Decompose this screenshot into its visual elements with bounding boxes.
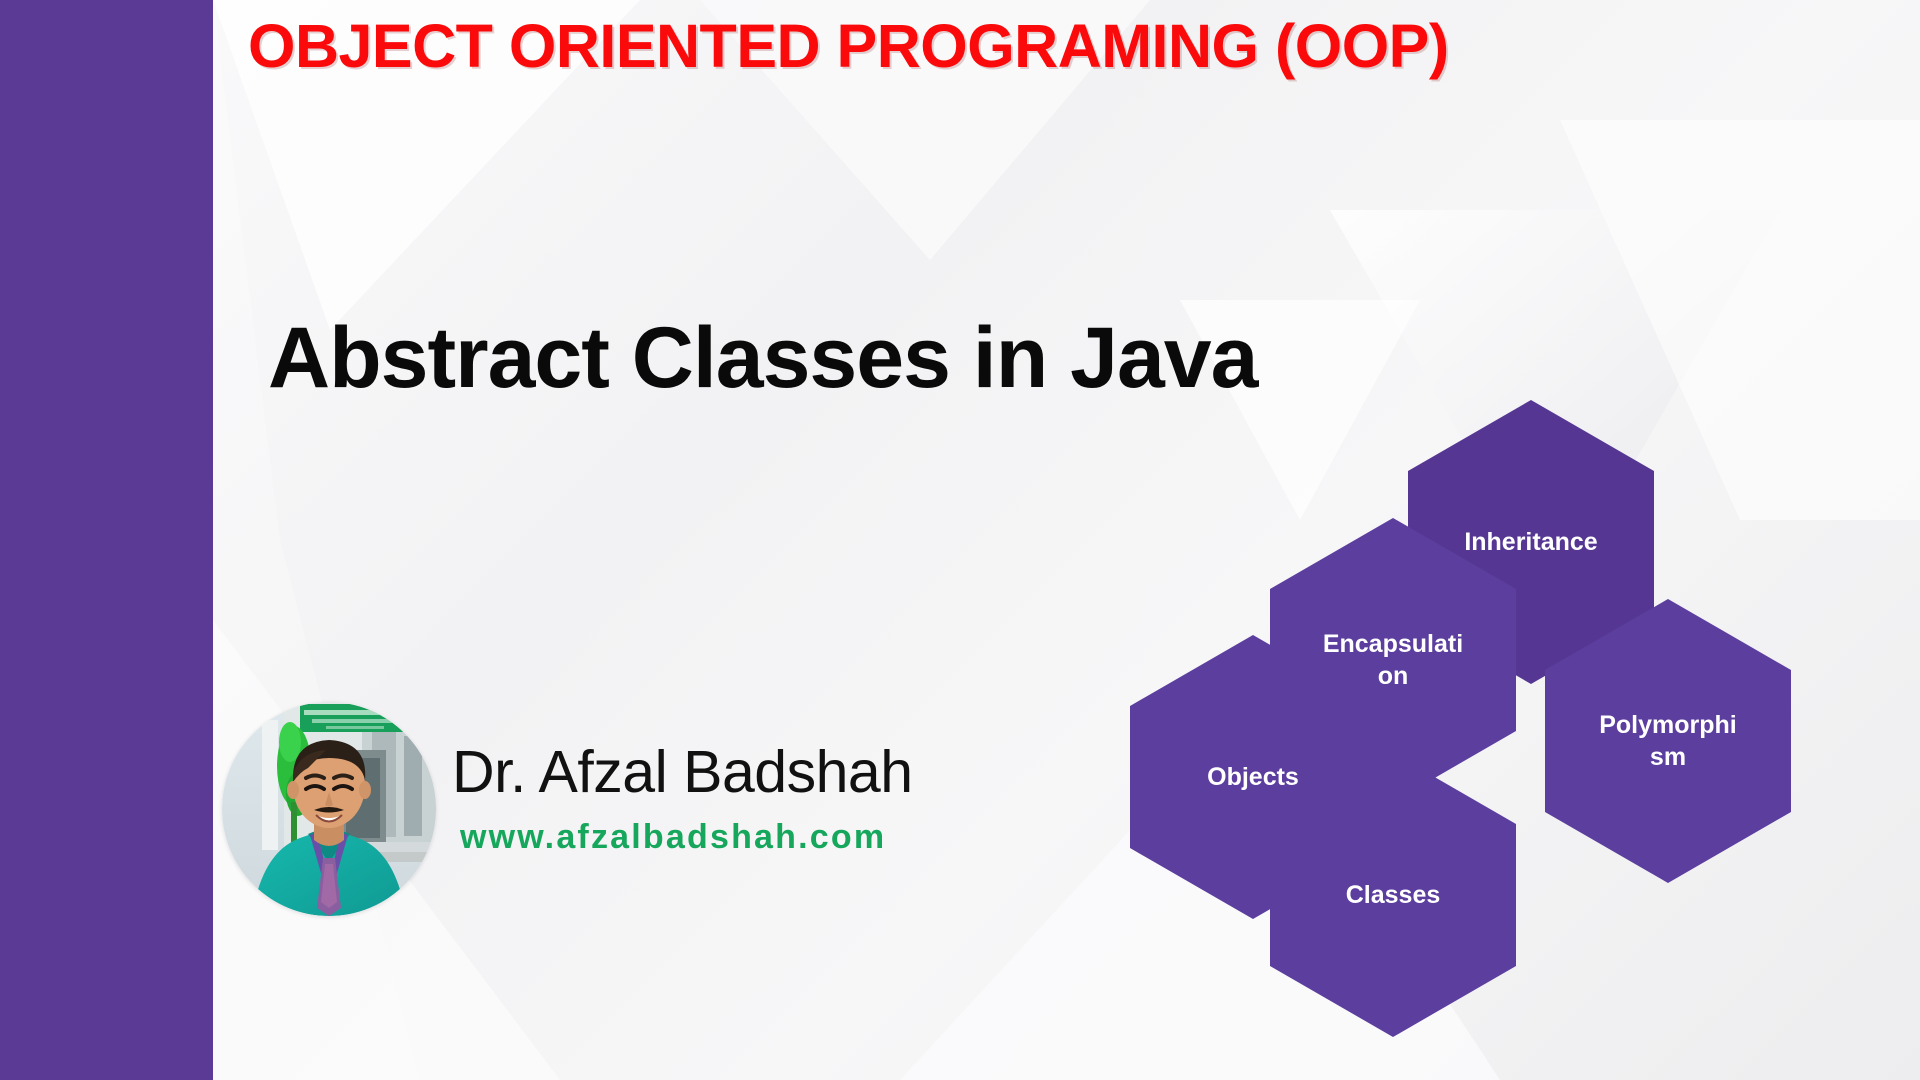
author-website-url: www.afzalbadshah.com <box>460 818 886 857</box>
oop-concepts-hex-cluster: Inheritance Encapsulation Polymorphism O… <box>1130 400 1890 1065</box>
left-accent-band <box>0 0 213 1080</box>
hex-encapsulation-label: Encapsulation <box>1318 628 1468 692</box>
hex-inheritance-label: Inheritance <box>1456 526 1606 558</box>
hex-objects-label: Objects <box>1178 761 1328 793</box>
avatar <box>222 702 436 916</box>
hex-polymorphism-label: Polymorphism <box>1593 709 1743 773</box>
avatar-photo <box>222 702 436 916</box>
author-name: Dr. Afzal Badshah <box>452 738 913 806</box>
page-header-title: OBJECT ORIENTED PROGRAMING (OOP) <box>248 14 1748 78</box>
page-title: Abstract Classes in Java <box>268 310 1348 406</box>
hex-classes-label: Classes <box>1318 879 1468 911</box>
presentation-slide: OBJECT ORIENTED PROGRAMING (OOP) Abstrac… <box>0 0 1920 1080</box>
